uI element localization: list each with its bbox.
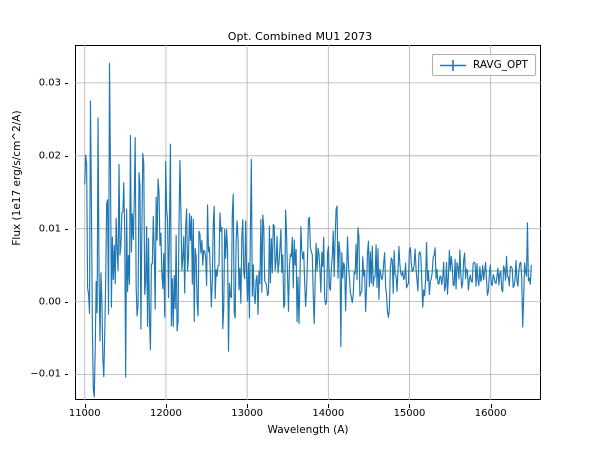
legend-marker-icon — [440, 60, 466, 71]
y-tick-mark — [65, 83, 69, 84]
x-tick-label: 11000 — [69, 408, 101, 419]
legend-label: RAVG_OPT — [473, 59, 528, 71]
x-axis-title: Wavelength (A) — [75, 424, 541, 436]
x-tick-mark — [85, 404, 86, 408]
x-tick-mark — [247, 404, 248, 408]
x-tick-mark — [166, 404, 167, 408]
chart-title: Opt. Combined MU1 2073 — [0, 30, 600, 43]
y-tick-mark — [65, 302, 69, 303]
y-tick-label: 0.00 — [39, 296, 61, 307]
y-tick-mark — [65, 229, 69, 230]
y-tick-mark — [65, 156, 69, 157]
y-tick-mark — [65, 374, 69, 375]
x-tick-label: 12000 — [150, 408, 182, 419]
x-axis-tick-labels: 110001200013000140001500016000 — [75, 404, 541, 420]
x-tick-mark — [491, 404, 492, 408]
y-axis-tick-labels: −0.010.000.010.020.03 — [0, 45, 68, 400]
x-tick-label: 16000 — [475, 408, 507, 419]
data-series-ravg-opt — [75, 45, 541, 400]
y-tick-label: 0.02 — [39, 150, 61, 161]
y-tick-label: −0.01 — [30, 369, 61, 380]
figure: Opt. Combined MU1 2073 Flux (1e17 erg/s/… — [0, 0, 600, 450]
x-tick-label: 13000 — [231, 408, 263, 419]
y-tick-label: 0.03 — [39, 77, 61, 88]
legend[interactable]: RAVG_OPT — [432, 54, 536, 76]
x-tick-mark — [409, 404, 410, 408]
x-tick-mark — [328, 404, 329, 408]
plot-area: RAVG_OPT — [75, 45, 541, 400]
x-tick-label: 15000 — [394, 408, 426, 419]
y-tick-label: 0.01 — [39, 223, 61, 234]
x-tick-label: 14000 — [312, 408, 344, 419]
